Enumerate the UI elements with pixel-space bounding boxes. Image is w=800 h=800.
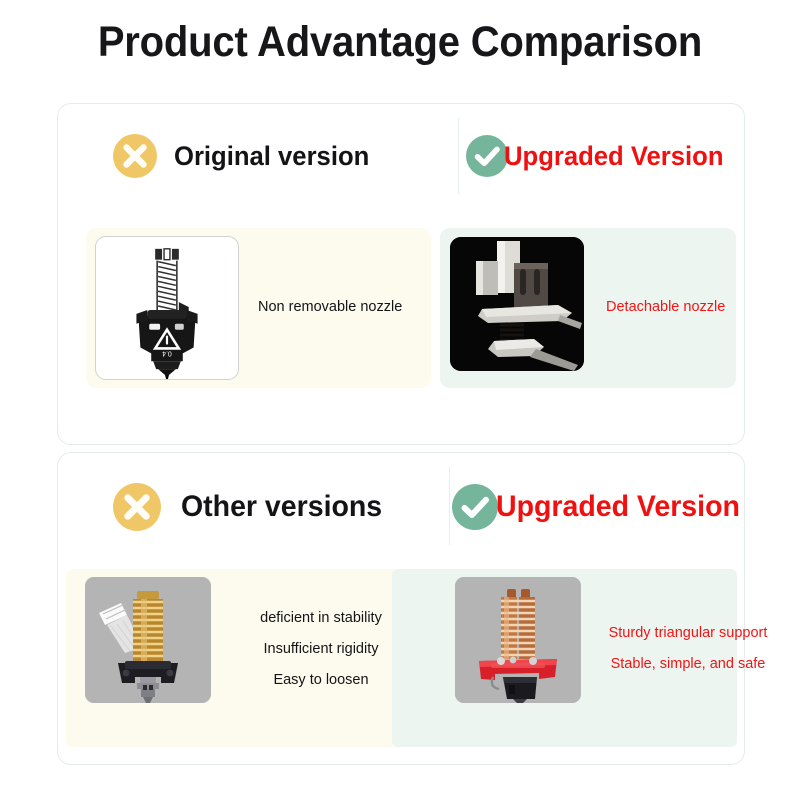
comparison-card-row-1: Original version Upgraded Version bbox=[57, 103, 745, 445]
row-1-left-header: Original version bbox=[113, 134, 380, 178]
row-2-left-bullet-1: deficient in stability bbox=[221, 603, 421, 634]
row-2-left-bullet-2: Insufficient rigidity bbox=[221, 634, 421, 665]
row-2-left-heading: Other versions bbox=[181, 490, 382, 524]
row-2-right-panel: Sturdy triangular support Stable, simple… bbox=[392, 569, 737, 747]
page-title: Product Advantage Comparison bbox=[28, 18, 772, 67]
detachable-nozzle-artwork bbox=[450, 237, 584, 371]
row-1-right-heading: Upgraded Version bbox=[504, 141, 724, 172]
gold-finned-hotend-artwork bbox=[85, 577, 211, 703]
cross-circle-icon bbox=[113, 134, 157, 178]
row-2-left-photo bbox=[85, 577, 211, 703]
row-2-left-bullets: deficient in stability Insufficient rigi… bbox=[221, 603, 421, 696]
row-2-right-bullet-2: Stable, simple, and safe bbox=[588, 649, 788, 680]
comparison-card-row-2: Other versions Upgraded Version bbox=[57, 452, 745, 765]
row-1-left-caption: Non removable nozzle bbox=[258, 299, 402, 315]
row-2-right-header: Upgraded Version bbox=[452, 484, 753, 530]
header-divider-row-1 bbox=[458, 118, 459, 194]
row-1-left-panel: 0.4 Non removable nozzle bbox=[86, 228, 431, 388]
row-2-right-bullet-1: Sturdy triangular support bbox=[588, 618, 788, 649]
row-1-left-photo: 0.4 bbox=[95, 236, 239, 380]
row-2-right-heading: Upgraded Version bbox=[496, 490, 740, 524]
cross-circle-icon bbox=[113, 483, 161, 531]
row-1-right-panel: Detachable nozzle bbox=[440, 228, 736, 388]
svg-text:0.4: 0.4 bbox=[162, 349, 172, 356]
row-1-right-photo bbox=[450, 237, 584, 371]
check-circle-icon bbox=[466, 135, 508, 177]
check-circle-icon bbox=[452, 484, 498, 530]
row-1-right-header: Upgraded Version bbox=[466, 135, 735, 177]
non-removable-nozzle-artwork: 0.4 bbox=[96, 237, 238, 379]
row-2-right-photo bbox=[455, 577, 581, 703]
row-1-left-heading: Original version bbox=[174, 141, 369, 172]
row-2-right-bullets: Sturdy triangular support Stable, simple… bbox=[588, 618, 788, 680]
header-divider-row-2 bbox=[449, 467, 450, 545]
red-block-copper-hotend-artwork bbox=[455, 577, 581, 703]
row-2-left-panel: deficient in stability Insufficient rigi… bbox=[66, 569, 431, 747]
row-2-left-bullet-3: Easy to loosen bbox=[221, 665, 421, 696]
row-1-right-caption: Detachable nozzle bbox=[606, 299, 725, 315]
row-2-left-header: Other versions bbox=[113, 483, 393, 531]
